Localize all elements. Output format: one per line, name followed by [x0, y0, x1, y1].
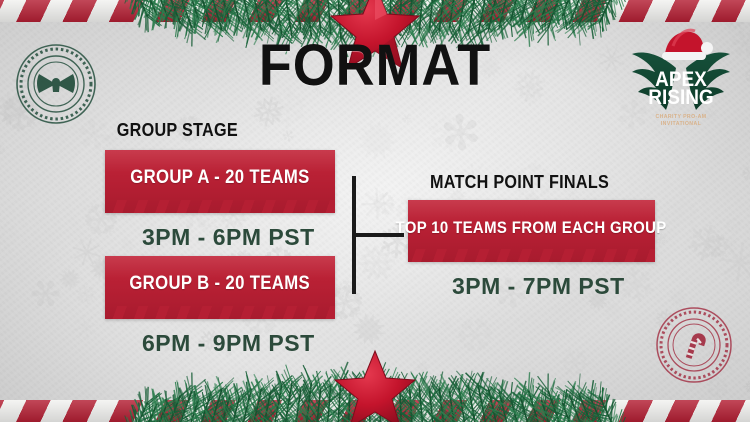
top-candycane-stripe-border	[0, 0, 750, 22]
apex-logo-tagline2: INVITATIONAL	[661, 121, 702, 127]
finals-heading: MATCH POINT FINALS	[430, 172, 609, 193]
bottom-candycane-stripe-border	[0, 400, 750, 422]
page-title: FORMAT	[26, 32, 724, 99]
apex-rising-logo: APEX RISING CHARITY PRO-AM INVITATIONAL	[626, 28, 736, 137]
finals-time: 3PM - 7PM PST	[452, 273, 625, 300]
group-b-time: 6PM - 9PM PST	[142, 330, 315, 357]
group-a-banner: GROUP A - 20 TEAMS	[105, 150, 335, 213]
group-b-label: GROUP B - 20 TEAMS	[130, 273, 311, 295]
group-stage-heading: GROUP STAGE	[117, 120, 238, 141]
group-a-label: GROUP A - 20 TEAMS	[130, 167, 309, 189]
candy-cane-stamp	[654, 305, 734, 390]
format-slide: ✻❆❆❆❆❅✳✹✹❆✹❆✹✳❄✹❆✳❆❆✳❆✹✹❅✻❅❆❄❆✻❅❅❆✳✹✹✹✹✳…	[0, 0, 750, 422]
finals-banner: TOP 10 TEAMS FROM EACH GROUP	[408, 200, 655, 262]
group-b-banner: GROUP B - 20 TEAMS	[105, 256, 335, 319]
finals-label: TOP 10 TEAMS FROM EACH GROUP	[396, 218, 667, 238]
apex-logo-line2: RISING	[648, 86, 713, 109]
group-a-time: 3PM - 6PM PST	[142, 224, 315, 251]
apex-logo-tagline1: CHARITY PRO-AM	[655, 114, 706, 120]
bow-seal-stamp	[14, 42, 98, 131]
